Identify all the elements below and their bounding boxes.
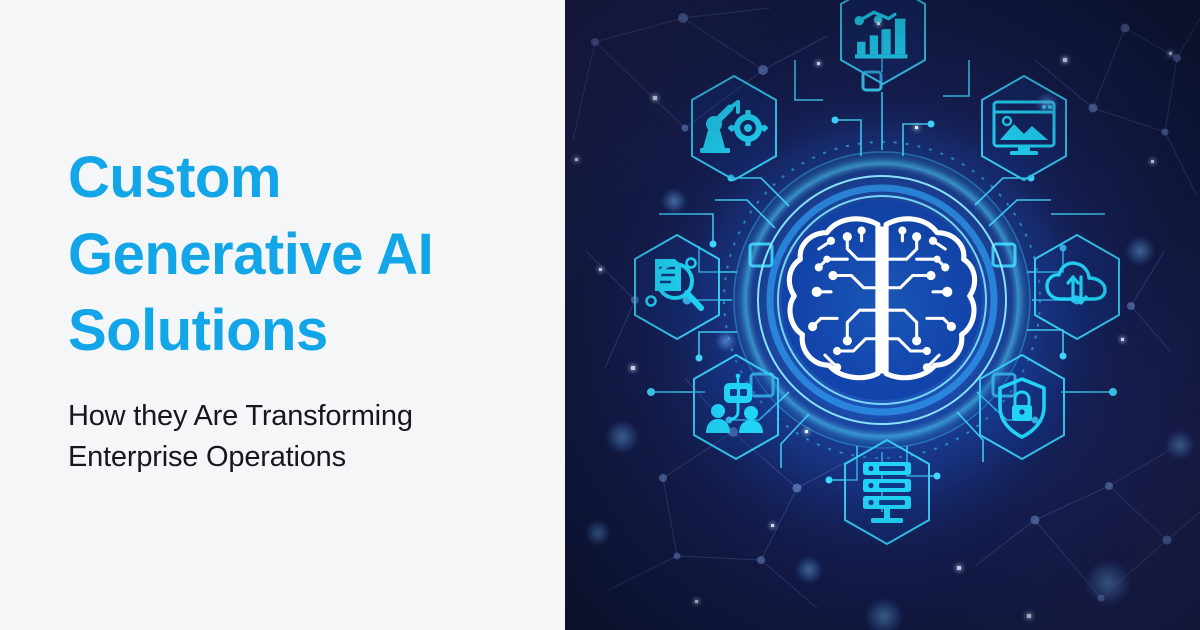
- page-subtitle: How they Are Transforming Enterprise Ope…: [68, 396, 538, 478]
- hex-node-security-shield[interactable]: [975, 355, 1069, 459]
- hex-node-cloud-sync[interactable]: [1030, 235, 1124, 339]
- banner-root: Custom Generative AI Solutions How they …: [0, 0, 1200, 630]
- hex-node-factory-automation[interactable]: [843, 0, 923, 78]
- hex-node-robotic-arm-gear[interactable]: [687, 76, 781, 180]
- hex-node-document-search[interactable]: [630, 235, 724, 339]
- hero-illustration: [565, 0, 1200, 630]
- hex-node-chatbot-people[interactable]: [689, 355, 783, 459]
- hex-node-media-generation[interactable]: [977, 76, 1071, 180]
- page-title: Custom Generative AI Solutions: [68, 140, 538, 370]
- text-panel: Custom Generative AI Solutions How they …: [0, 0, 565, 630]
- text-stack: Custom Generative AI Solutions How they …: [68, 140, 538, 478]
- hex-node-database-server[interactable]: [840, 440, 934, 544]
